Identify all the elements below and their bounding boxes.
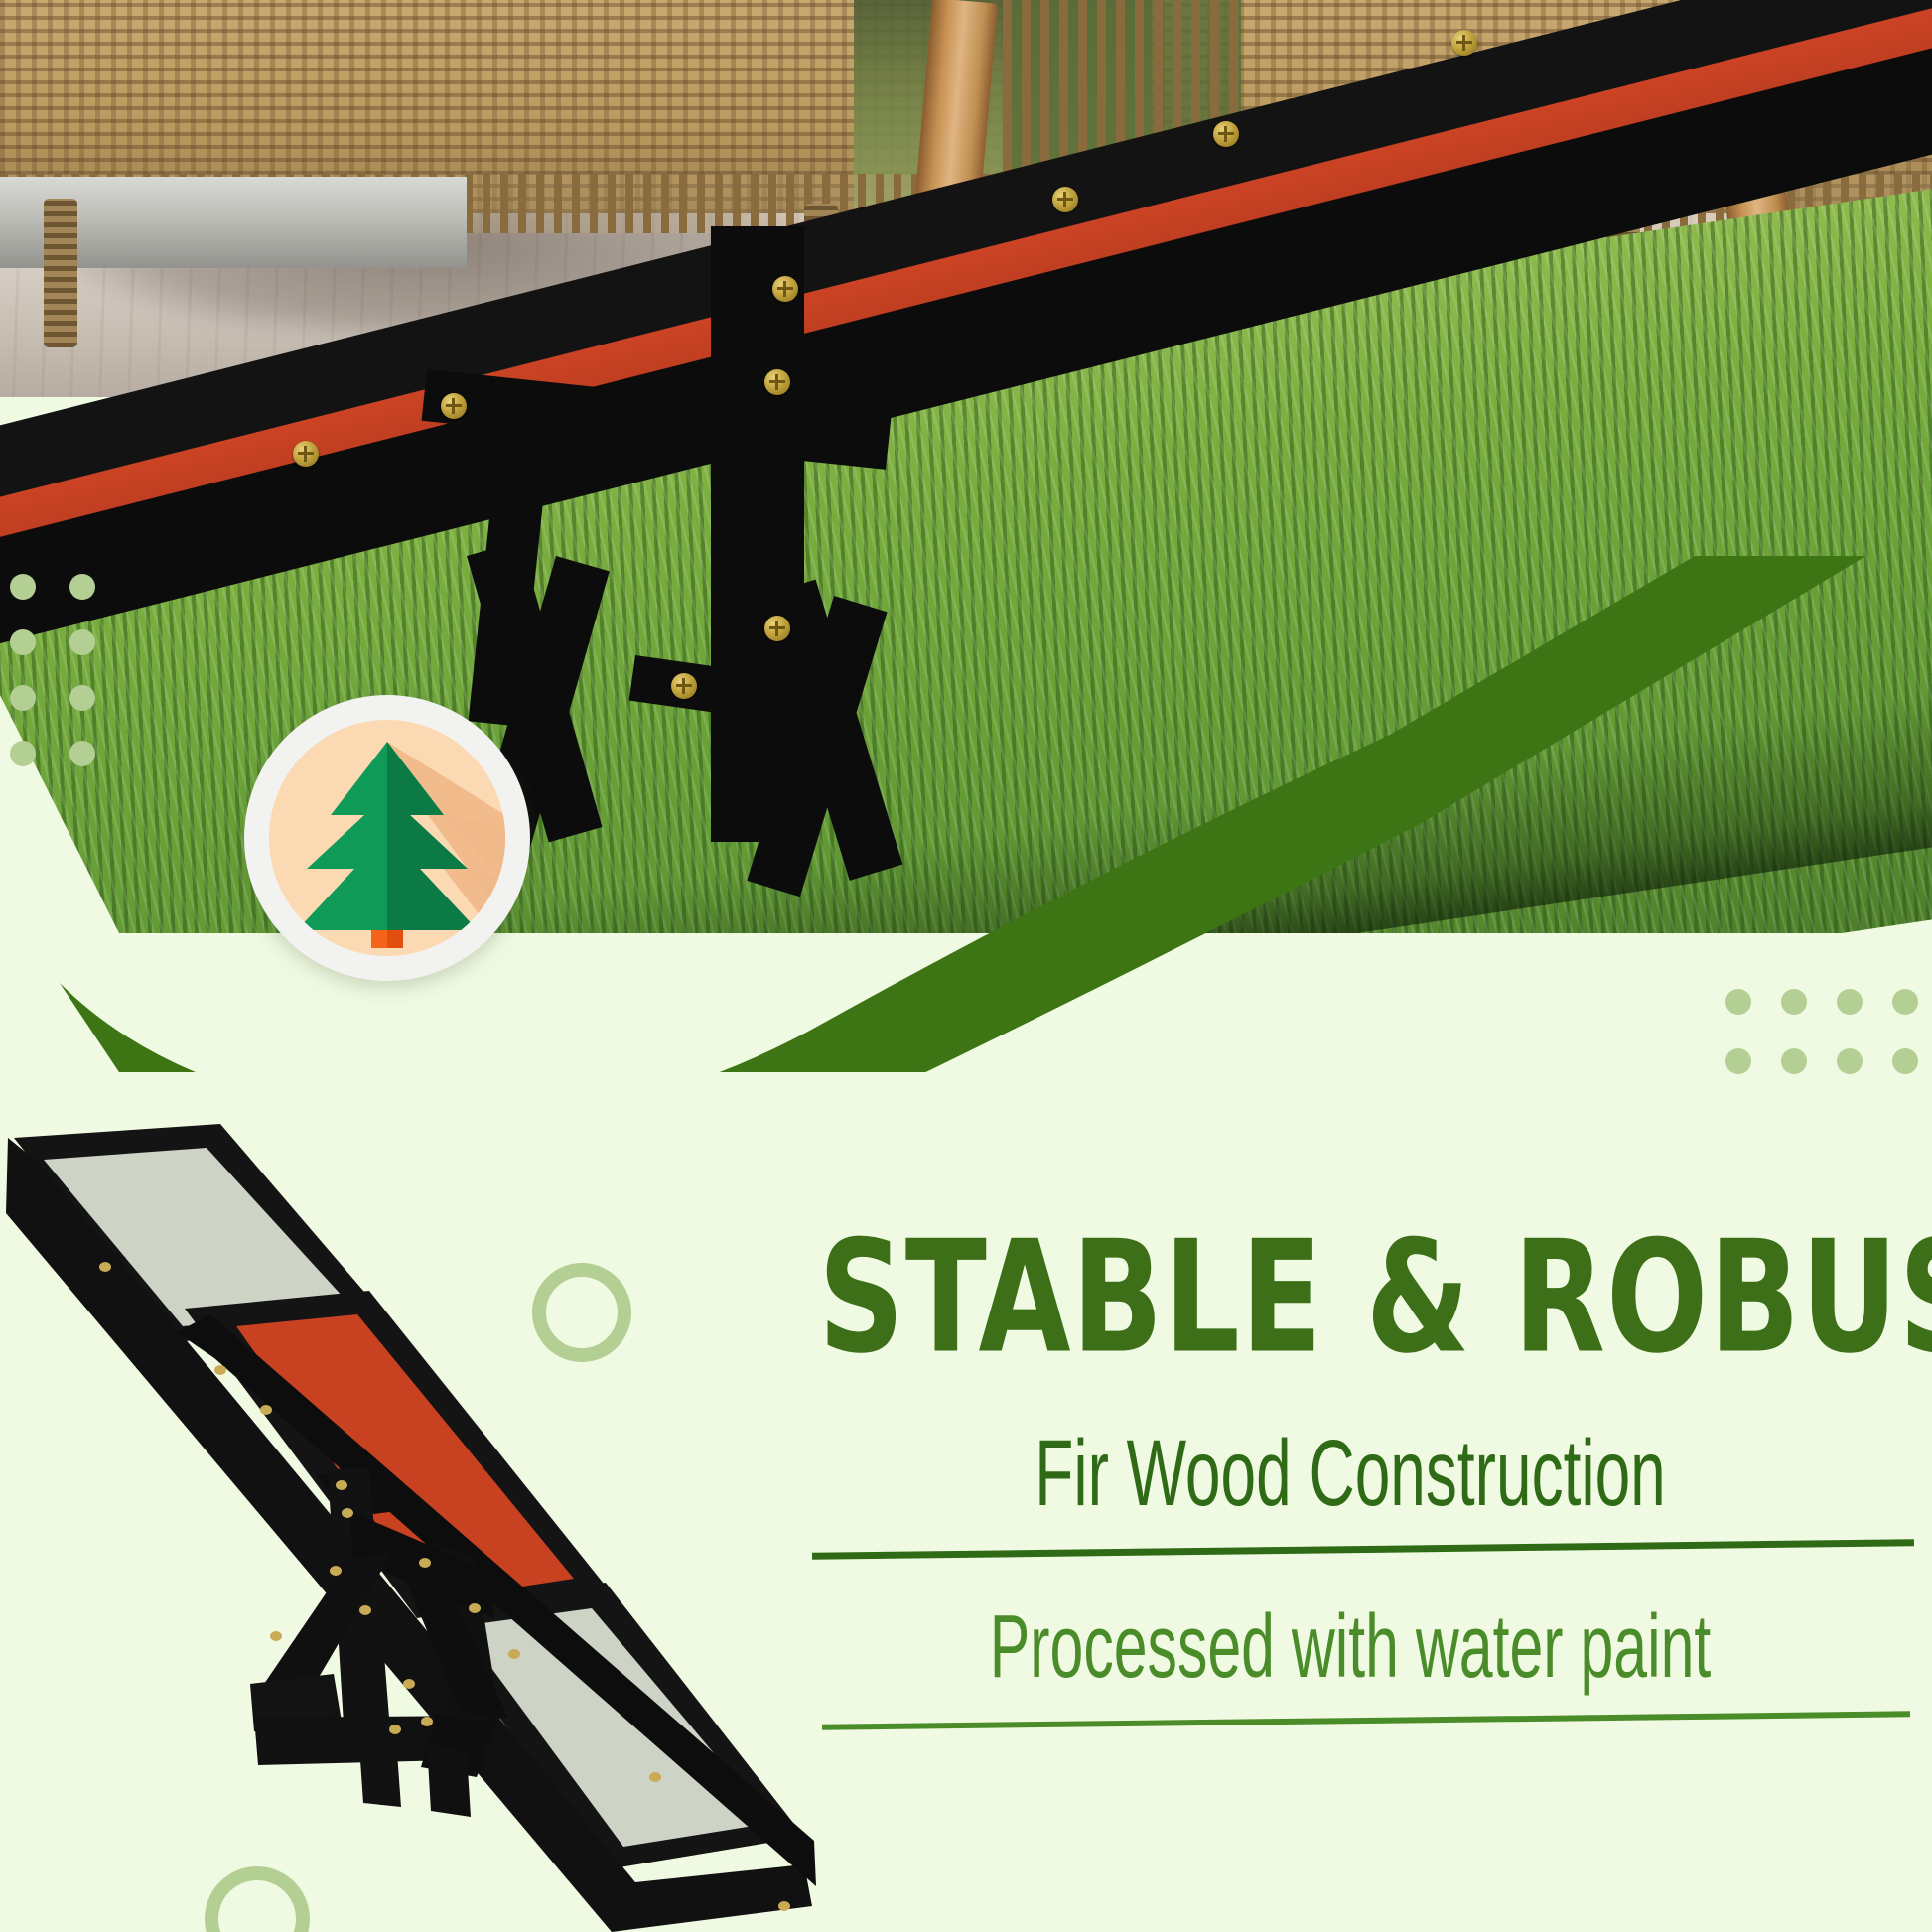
subheading-water-paint: Processed with water paint bbox=[897, 1598, 1803, 1697]
brass-screw bbox=[764, 616, 790, 641]
decor-dot bbox=[1725, 1048, 1751, 1074]
decor-dot bbox=[1781, 989, 1807, 1015]
fir-tree-badge bbox=[244, 695, 530, 981]
product-seesaw-illustration bbox=[0, 1122, 824, 1932]
badge-inner-circle bbox=[269, 720, 505, 956]
decor-dots-left bbox=[10, 574, 129, 796]
brass-screw bbox=[441, 393, 467, 419]
brass-screw bbox=[764, 369, 790, 395]
decor-dot bbox=[10, 741, 36, 766]
decor-dot bbox=[1725, 989, 1751, 1015]
decor-dot bbox=[69, 741, 95, 766]
brass-screw bbox=[1451, 30, 1477, 56]
brass-screw bbox=[1213, 121, 1239, 147]
headline: STABLE & ROBUST bbox=[818, 1221, 1882, 1376]
decor-dot bbox=[10, 685, 36, 711]
decor-dot bbox=[69, 685, 95, 711]
decor-dot bbox=[1837, 1048, 1863, 1074]
decor-dot bbox=[69, 574, 95, 600]
subheading-fir-wood: Fir Wood Construction bbox=[897, 1422, 1803, 1525]
decor-dot bbox=[1892, 1048, 1918, 1074]
decor-dot bbox=[1837, 989, 1863, 1015]
decor-dot bbox=[69, 629, 95, 655]
brass-screw bbox=[1052, 187, 1078, 212]
decor-dots-right bbox=[1725, 989, 1932, 1108]
brass-screw bbox=[671, 673, 697, 699]
fir-tree-icon bbox=[269, 720, 505, 956]
decor-dot bbox=[10, 574, 36, 600]
marketing-banner: STABLE & ROBUST Fir Wood Construction Pr… bbox=[0, 0, 1932, 1932]
decor-dot bbox=[10, 629, 36, 655]
decor-dot bbox=[1892, 989, 1918, 1015]
brass-screw bbox=[772, 276, 798, 302]
brass-screw bbox=[293, 441, 319, 467]
decor-dot bbox=[1781, 1048, 1807, 1074]
seesaw-body bbox=[6, 1122, 824, 1932]
